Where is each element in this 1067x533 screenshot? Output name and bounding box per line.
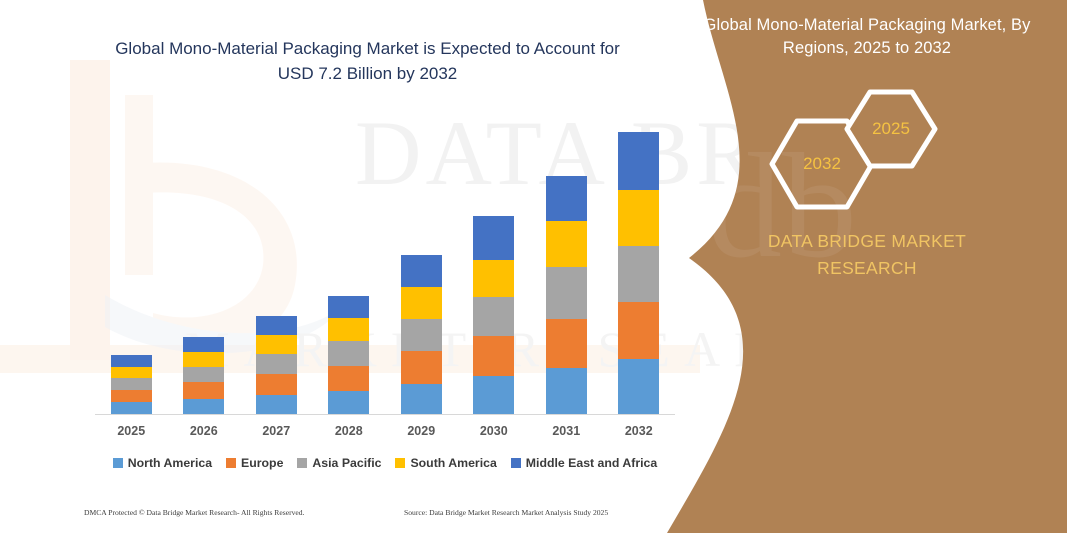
bar-segment[interactable] xyxy=(546,319,587,368)
legend-item[interactable]: Europe xyxy=(226,456,283,470)
x-axis-tick: 2025 xyxy=(95,424,168,438)
bar-slot xyxy=(240,316,313,414)
legend-label: South America xyxy=(410,456,496,470)
bar-segment[interactable] xyxy=(111,355,152,367)
hexagon-2025: 2025 xyxy=(843,88,939,170)
bar-slot xyxy=(530,176,603,414)
bar-segment[interactable] xyxy=(401,319,442,351)
bar-segment[interactable] xyxy=(546,221,587,267)
legend-item[interactable]: North America xyxy=(113,456,212,470)
bar-segment[interactable] xyxy=(328,341,369,366)
bar-segment[interactable] xyxy=(256,335,297,354)
bar-segment[interactable] xyxy=(111,390,152,402)
bar-segment[interactable] xyxy=(328,296,369,318)
stacked-bar[interactable] xyxy=(183,337,224,414)
bar-segment[interactable] xyxy=(111,378,152,390)
bar-segment[interactable] xyxy=(328,366,369,391)
bar-slot xyxy=(168,337,241,414)
bar-segment[interactable] xyxy=(111,367,152,378)
right-brand-panel: db Global Mono-Material Packaging Market… xyxy=(667,0,1067,533)
chart-legend: North AmericaEuropeAsia PacificSouth Ame… xyxy=(95,456,675,470)
legend-swatch-icon xyxy=(395,458,405,468)
legend-label: Middle East and Africa xyxy=(526,456,657,470)
bar-segment[interactable] xyxy=(328,318,369,341)
page-title: Global Mono-Material Packaging Market is… xyxy=(95,36,640,86)
x-axis-tick: 2026 xyxy=(168,424,241,438)
bar-segment[interactable] xyxy=(546,267,587,319)
hexagon-group: 2032 2025 xyxy=(667,98,1067,198)
x-axis-tick: 2032 xyxy=(603,424,676,438)
bar-segment[interactable] xyxy=(618,302,659,359)
footer-copyright: DMCA Protected © Data Bridge Market Rese… xyxy=(84,508,404,517)
bar-segment[interactable] xyxy=(618,246,659,302)
stacked-bar[interactable] xyxy=(401,255,442,414)
brand-wordmark: DATA BRIDGE MARKET RESEARCH xyxy=(667,228,1067,282)
bar-segment[interactable] xyxy=(401,287,442,319)
x-axis-tick: 2027 xyxy=(240,424,313,438)
bar-segment[interactable] xyxy=(618,190,659,246)
legend-swatch-icon xyxy=(511,458,521,468)
x-axis-labels: 20252026202720282029203020312032 xyxy=(95,424,675,438)
stacked-bar[interactable] xyxy=(111,355,152,414)
legend-item[interactable]: Middle East and Africa xyxy=(511,456,657,470)
brand-line-2: RESEARCH xyxy=(667,255,1067,282)
bar-segment[interactable] xyxy=(546,368,587,414)
stacked-bar[interactable] xyxy=(546,176,587,414)
bar-segment[interactable] xyxy=(401,255,442,287)
bar-segment[interactable] xyxy=(183,352,224,367)
stacked-bar[interactable] xyxy=(473,216,514,414)
footer-source: Source: Data Bridge Market Research Mark… xyxy=(404,508,684,517)
bar-segment[interactable] xyxy=(256,316,297,335)
bar-segment[interactable] xyxy=(401,351,442,384)
brand-line-1: DATA BRIDGE MARKET xyxy=(667,228,1067,255)
bar-slot xyxy=(313,296,386,414)
stacked-bar[interactable] xyxy=(256,316,297,414)
x-axis-tick: 2031 xyxy=(530,424,603,438)
bar-segment[interactable] xyxy=(183,337,224,352)
bar-segment[interactable] xyxy=(183,399,224,414)
infographic-root: DATA BRIDGE MARKET RESEARCH Global Mono-… xyxy=(0,0,1067,533)
panel-title: Global Mono-Material Packaging Market, B… xyxy=(667,14,1067,60)
bar-segment[interactable] xyxy=(473,376,514,414)
x-axis-tick: 2030 xyxy=(458,424,531,438)
legend-swatch-icon xyxy=(113,458,123,468)
bar-slot xyxy=(385,255,458,414)
bar-segment[interactable] xyxy=(473,297,514,336)
bar-segment[interactable] xyxy=(256,395,297,414)
bar-segment[interactable] xyxy=(473,216,514,260)
bar-segment[interactable] xyxy=(618,359,659,414)
bar-segment[interactable] xyxy=(183,382,224,399)
x-axis-tick: 2028 xyxy=(313,424,386,438)
stacked-bar[interactable] xyxy=(618,132,659,414)
chart-baseline xyxy=(95,414,675,415)
bar-segment[interactable] xyxy=(256,354,297,374)
bar-segment[interactable] xyxy=(183,367,224,382)
stacked-bar[interactable] xyxy=(328,296,369,414)
bar-slot xyxy=(458,216,531,414)
bar-slot xyxy=(95,355,168,414)
bar-chart-plot xyxy=(95,110,675,415)
legend-label: Europe xyxy=(241,456,283,470)
legend-swatch-icon xyxy=(297,458,307,468)
legend-swatch-icon xyxy=(226,458,236,468)
legend-item[interactable]: South America xyxy=(395,456,496,470)
hexagon-2025-label: 2025 xyxy=(843,119,939,139)
bar-segment[interactable] xyxy=(546,176,587,221)
bar-segment[interactable] xyxy=(256,374,297,395)
footer: DMCA Protected © Data Bridge Market Rese… xyxy=(84,508,684,517)
bar-segment[interactable] xyxy=(473,260,514,297)
x-axis-tick: 2029 xyxy=(385,424,458,438)
legend-item[interactable]: Asia Pacific xyxy=(297,456,381,470)
legend-label: North America xyxy=(128,456,212,470)
bar-segment[interactable] xyxy=(328,391,369,414)
legend-label: Asia Pacific xyxy=(312,456,381,470)
bar-segment[interactable] xyxy=(618,132,659,190)
bar-segment[interactable] xyxy=(111,402,152,414)
bar-segment[interactable] xyxy=(401,384,442,414)
bar-group xyxy=(95,110,675,414)
bar-segment[interactable] xyxy=(473,336,514,376)
bar-slot xyxy=(603,132,676,414)
